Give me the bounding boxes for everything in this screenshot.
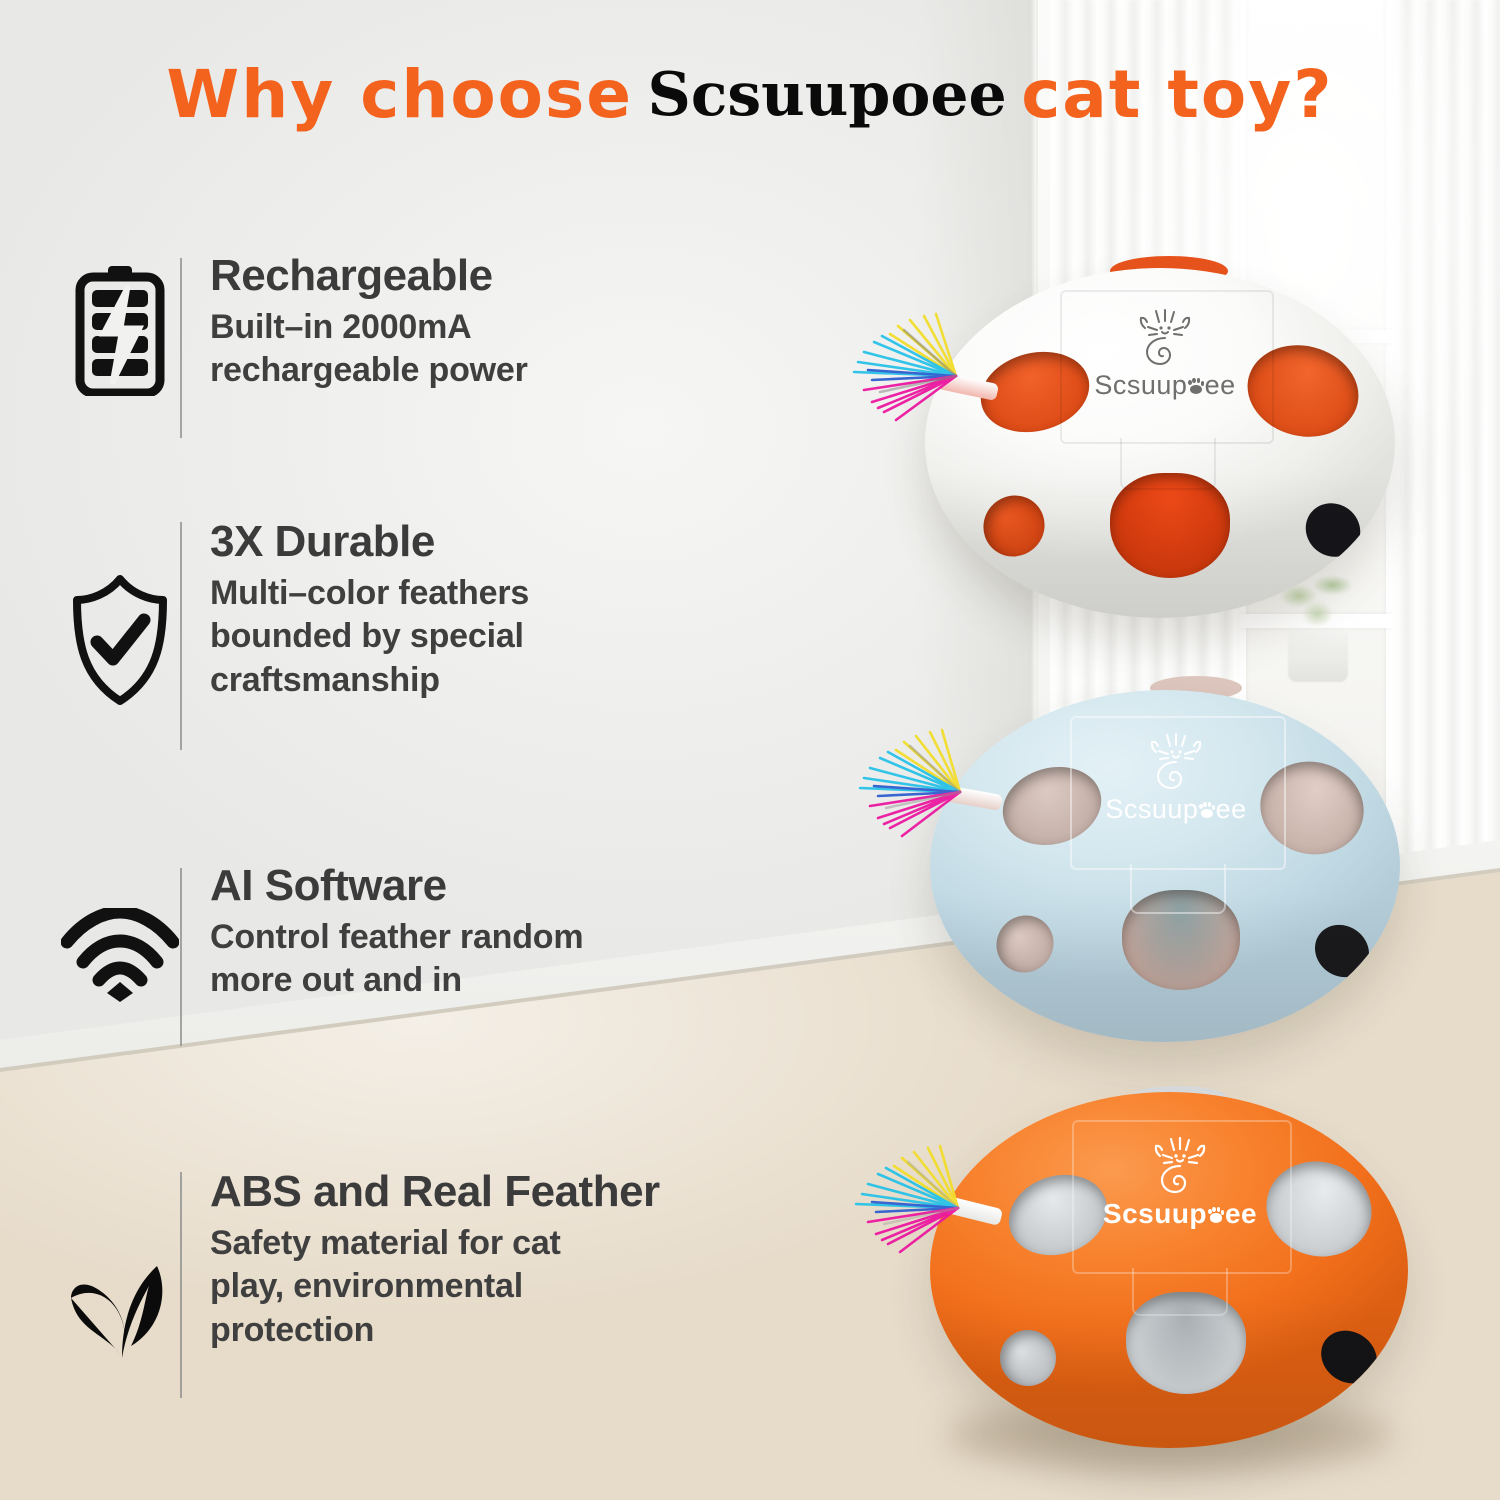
toy-brand-text: Scsuupee <box>1070 794 1282 825</box>
toy-hole-sensor <box>1295 492 1371 567</box>
toy-hole-front <box>1110 473 1230 578</box>
paw-icon <box>1188 378 1205 395</box>
toy-hole-front <box>1126 1292 1246 1394</box>
cat-spiral-logo <box>1140 732 1212 792</box>
feature-item-ai-software: AI Software Control feather random more … <box>60 862 583 1052</box>
leaf-sprout-icon <box>60 1242 180 1362</box>
feature-desc-line: Control feather random <box>210 916 583 960</box>
toy-body: Scsuupee <box>930 1092 1408 1448</box>
feature-text: AI Software Control feather random more … <box>210 862 583 1003</box>
toy-brand-plate: Scsuupee <box>1070 732 1282 825</box>
feature-title: ABS and Real Feather <box>210 1168 660 1216</box>
paw-icon <box>1207 1206 1224 1223</box>
title-part-2: cat toy? <box>1021 62 1333 128</box>
toy-brand-text: Scsuupee <box>1060 370 1270 401</box>
toy-hole-sensor <box>1305 914 1380 987</box>
feature-desc-line: rechargeable power <box>210 349 528 393</box>
feature-description: Control feather random more out and in <box>210 916 583 1003</box>
feature-item-rechargeable: Rechargeable Built–in 2000mA rechargeabl… <box>60 252 528 452</box>
cat-spiral-logo <box>1144 1136 1216 1196</box>
wifi-signal-icon <box>60 908 180 1002</box>
feature-desc-line: Multi–color feathers <box>210 572 529 616</box>
feature-list: Rechargeable Built–in 2000mA rechargeabl… <box>0 0 840 1500</box>
feature-divider <box>180 868 182 1046</box>
multi-color-feather <box>838 1136 970 1258</box>
feature-divider <box>180 1172 182 1398</box>
toy-lid-tab <box>1130 864 1226 914</box>
toy-hole-sensor <box>1311 1320 1387 1394</box>
toy-brand-text: Scsuupee <box>1072 1198 1288 1230</box>
feature-title: 3X Durable <box>210 518 529 566</box>
feature-desc-line: play, environmental <box>210 1265 660 1309</box>
toy-hole-lower-left <box>988 1318 1067 1397</box>
plant-pot <box>1288 630 1348 682</box>
infographic-canvas: Why choose Scsuupoee cat toy? <box>0 0 1500 1500</box>
toy-body: Scsuupee <box>925 268 1395 618</box>
cat-spiral-logo <box>1129 308 1201 368</box>
feature-item-abs-real-feather: ABS and Real Feather Safety material for… <box>60 1168 660 1418</box>
paw-icon <box>1199 802 1216 819</box>
feature-description: Safety material for cat play, environmen… <box>210 1222 660 1353</box>
toy-brand-plate: Scsuupee <box>1072 1136 1288 1230</box>
toy-hole-lower-left <box>985 904 1066 985</box>
toy-brand-plate: Scsuupee <box>1060 308 1270 401</box>
feature-title: AI Software <box>210 862 583 910</box>
toy-lid-tab <box>1120 438 1216 490</box>
feature-item-durable: 3X Durable Multi–color feathers bounded … <box>60 518 529 768</box>
multi-color-feather <box>838 308 968 428</box>
feature-desc-line: protection <box>210 1309 660 1353</box>
feature-divider <box>180 522 182 750</box>
feature-desc-line: more out and in <box>210 959 583 1003</box>
battery-charging-icon <box>60 264 180 396</box>
toy-hole-lower-left <box>971 483 1057 569</box>
feature-desc-line: craftsmanship <box>210 659 529 703</box>
multi-color-feather <box>842 722 972 844</box>
feature-description: Built–in 2000mA rechargeable power <box>210 306 528 393</box>
feature-description: Multi–color feathers bounded by special … <box>210 572 529 703</box>
feature-text: Rechargeable Built–in 2000mA rechargeabl… <box>210 252 528 393</box>
feature-desc-line: Safety material for cat <box>210 1222 660 1266</box>
feature-desc-line: Built–in 2000mA <box>210 306 528 350</box>
toy-lid-tab <box>1132 1268 1228 1316</box>
feature-divider <box>180 258 182 438</box>
shield-check-icon <box>60 574 180 706</box>
feature-text: 3X Durable Multi–color feathers bounded … <box>210 518 529 702</box>
feature-text: ABS and Real Feather Safety material for… <box>210 1168 660 1352</box>
feature-desc-line: bounded by special <box>210 615 529 659</box>
toy-hole-front <box>1122 890 1240 990</box>
feature-title: Rechargeable <box>210 252 528 300</box>
toy-body: Scsuupee <box>930 690 1400 1042</box>
